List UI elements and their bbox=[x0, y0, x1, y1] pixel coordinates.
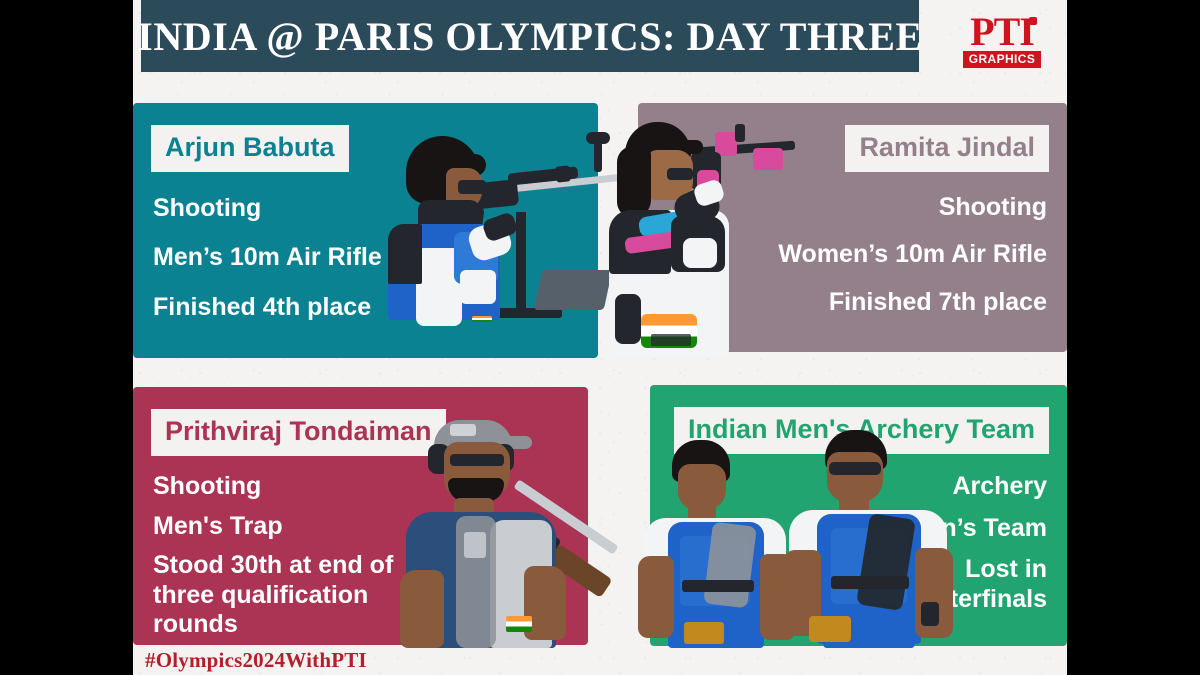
page-title: INDIA @ PARIS OLYMPICS: DAY THREE bbox=[137, 13, 923, 60]
pti-brand-text: PTI bbox=[970, 14, 1034, 50]
card-content: Prithviraj Tondaiman Shooting Men's Trap… bbox=[133, 387, 588, 645]
card-content: Arjun Babuta Shooting Men’s 10m Air Rifl… bbox=[133, 103, 598, 358]
athlete-name-badge: Arjun Babuta bbox=[151, 125, 349, 172]
result-line: Finished 7th place bbox=[778, 288, 1047, 318]
sport-line: Shooting bbox=[778, 193, 1047, 223]
pti-graphics-logo: PTI GRAPHICS bbox=[959, 8, 1045, 74]
card-content: Indian Men's Archery Team Archery Men’s … bbox=[650, 385, 1067, 646]
card-detail-lines: Shooting Men’s 10m Air Rifle Finished 4t… bbox=[151, 178, 580, 342]
card-indian-mens-archery-team[interactable]: Indian Men's Archery Team Archery Men’s … bbox=[650, 385, 1067, 646]
athlete-name-badge: Ramita Jindal bbox=[845, 125, 1049, 172]
event-line: Women’s 10m Air Rifle bbox=[778, 240, 1047, 270]
infographic-stage: INDIA @ PARIS OLYMPICS: DAY THREE PTI GR… bbox=[0, 0, 1200, 675]
sport-line: Archery bbox=[857, 472, 1047, 502]
event-line: Men's Trap bbox=[153, 512, 568, 542]
event-line: Men’s 10m Air Rifle bbox=[153, 243, 578, 273]
card-detail-lines: Archery Men’s Team Lost in Quarterfinals bbox=[855, 460, 1049, 630]
result-line: Stood 30th at end of three qualification… bbox=[153, 551, 413, 640]
card-ramita-jindal[interactable]: Ramita Jindal Shooting Women’s 10m Air R… bbox=[638, 103, 1067, 352]
result-line: Lost in Quarterfinals bbox=[857, 555, 1047, 614]
team-name-badge: Indian Men's Archery Team bbox=[674, 407, 1049, 454]
card-detail-lines: Shooting Women’s 10m Air Rifle Finished … bbox=[776, 178, 1049, 336]
sport-line: Shooting bbox=[153, 194, 578, 224]
hashtag-footer: #Olympics2024WithPTI bbox=[145, 648, 367, 673]
athlete-name-badge: Prithviraj Tondaiman bbox=[151, 409, 446, 456]
card-prithviraj-tondaiman[interactable]: Prithviraj Tondaiman Shooting Men's Trap… bbox=[133, 387, 588, 645]
event-line: Men’s Team bbox=[857, 514, 1047, 544]
pti-dot-icon bbox=[1029, 17, 1037, 25]
title-bar: INDIA @ PARIS OLYMPICS: DAY THREE bbox=[141, 0, 919, 72]
card-content: Ramita Jindal Shooting Women’s 10m Air R… bbox=[638, 103, 1067, 352]
content-area: INDIA @ PARIS OLYMPICS: DAY THREE PTI GR… bbox=[133, 0, 1067, 675]
card-detail-lines: Shooting Men's Trap Stood 30th at end of… bbox=[151, 462, 570, 640]
result-line: Finished 4th place bbox=[153, 293, 578, 323]
sport-line: Shooting bbox=[153, 472, 568, 502]
card-arjun-babuta[interactable]: Arjun Babuta Shooting Men’s 10m Air Rifl… bbox=[133, 103, 598, 358]
pti-brand-label: PTI bbox=[970, 9, 1034, 54]
